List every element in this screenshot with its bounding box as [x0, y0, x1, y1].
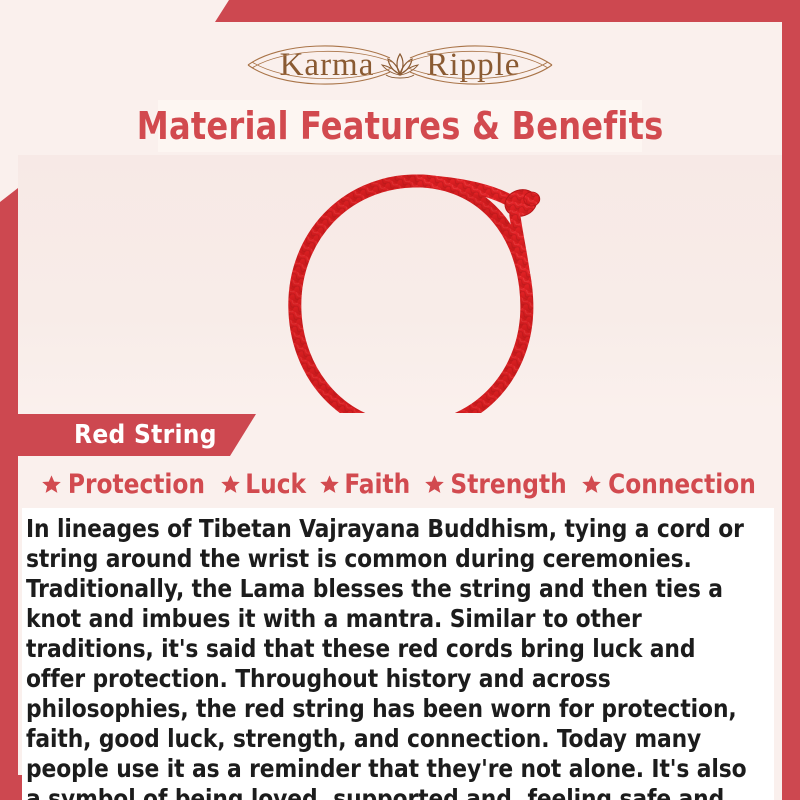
benefit-label: Connection: [608, 469, 756, 500]
title-banner: Material Features & Benefits: [158, 100, 642, 152]
lotus-icon: [380, 48, 420, 82]
benefit-label: Luck: [245, 469, 306, 500]
benefit-item-strength: Strength: [419, 469, 574, 500]
frame-accent-top: [215, 0, 800, 22]
star-icon: [41, 474, 62, 495]
benefit-label: Strength: [450, 469, 566, 500]
material-name: Red String: [74, 420, 217, 450]
description-text: In lineages of Tibetan Vajrayana Buddhis…: [26, 514, 759, 800]
benefit-item-luck: Luck: [215, 469, 312, 500]
description-block: In lineages of Tibetan Vajrayana Buddhis…: [22, 508, 774, 800]
frame-accent-right: [782, 0, 800, 800]
star-icon: [220, 474, 241, 495]
benefits-list: Protection Luck Faith Strength Connectio…: [18, 462, 782, 506]
benefit-label: Faith: [345, 469, 411, 500]
hero-image-area: [18, 155, 782, 413]
infographic-page: Karma Ripple Material Features & Benefit…: [0, 0, 800, 800]
benefit-label: Protection: [68, 469, 205, 500]
red-string-bracelet-image: [253, 163, 573, 413]
benefit-item-connection: Connection: [576, 469, 764, 500]
star-icon: [581, 474, 602, 495]
brand-name-right: Ripple: [426, 49, 520, 82]
page-title: Material Features & Benefits: [137, 104, 664, 148]
star-icon: [319, 474, 340, 495]
frame-accent-left: [0, 188, 18, 800]
brand-name-left: Karma: [280, 49, 375, 82]
star-icon: [424, 474, 445, 495]
benefit-item-protection: Protection: [36, 469, 213, 500]
brand-logo: Karma Ripple: [0, 34, 800, 96]
benefit-item-faith: Faith: [314, 469, 417, 500]
material-ribbon: Red String: [18, 414, 256, 456]
